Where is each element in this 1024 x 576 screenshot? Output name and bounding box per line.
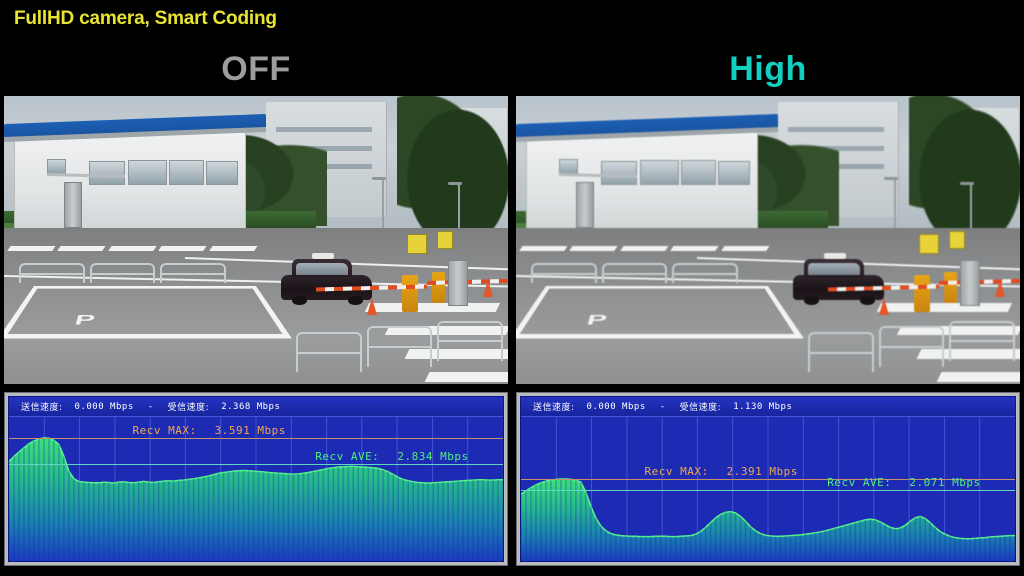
recv-ave-readout: Recv AVE:2.834 Mbps (315, 450, 468, 463)
camera-view-off: P (4, 96, 508, 384)
traffic-cone-2 (483, 280, 493, 297)
guard-rail-3 (160, 263, 226, 283)
graph-header-high: 送信速度: 0.000 Mbps - 受信速度: 1.130 Mbps (521, 397, 1015, 417)
bandwidth-graph-high: 送信速度: 0.000 Mbps - 受信速度: 1.130 Mbps Recv… (516, 392, 1020, 566)
guard-rail-6 (949, 321, 1015, 361)
comparison-stage: FullHD camera, Smart Coding OFF High (0, 0, 1024, 576)
equipment-cabinet (576, 182, 593, 228)
gate-booth (14, 125, 246, 237)
mode-label-high: High (512, 50, 1024, 89)
guard-rail-4 (808, 332, 874, 372)
trees-right (909, 96, 1020, 234)
recv-max-value: 2.391 Mbps (709, 465, 798, 478)
light-pole (894, 177, 896, 229)
warning-sign (919, 234, 939, 254)
bandwidth-graph-off: 送信速度: 0.000 Mbps - 受信速度: 2.368 Mbps Recv… (4, 392, 508, 566)
warning-sign-2 (437, 231, 452, 248)
recv-ave-value: 2.071 Mbps (891, 476, 980, 489)
guard-rail-2 (602, 263, 668, 283)
recv-max-label: Recv MAX: (133, 424, 197, 437)
guard-rail-4 (296, 332, 362, 372)
recv-ave-readout: Recv AVE:2.071 Mbps (827, 476, 980, 489)
separator: - (646, 402, 666, 412)
guard-rail (19, 263, 85, 283)
separator: - (134, 402, 154, 412)
rx-label: 受信速度: (666, 400, 722, 413)
tx-value: 0.000 Mbps (63, 402, 134, 412)
gate-terminal (960, 260, 980, 306)
max-threshold-line (9, 438, 503, 439)
recv-max-label: Recv MAX: (645, 465, 709, 478)
guard-rail-6 (437, 321, 503, 361)
ave-threshold-line (9, 464, 503, 465)
tx-label: 送信速度: (9, 400, 63, 413)
guard-rail-3 (672, 263, 738, 283)
traffic-cone (879, 298, 889, 315)
guard-rail (531, 263, 597, 283)
warning-sign (407, 234, 427, 254)
parking-stall (516, 286, 804, 338)
equipment-cabinet (64, 182, 81, 228)
traffic-cone-2 (995, 280, 1005, 297)
guard-rail-5 (367, 326, 433, 366)
parking-stall (4, 286, 292, 338)
gate-terminal (448, 260, 468, 306)
ave-threshold-line (521, 490, 1015, 491)
panel-smart-coding-off: P (4, 96, 508, 566)
page-title: FullHD camera, Smart Coding (14, 8, 277, 30)
recv-max-value: 3.591 Mbps (197, 424, 286, 437)
recv-max-readout: Recv MAX:3.591 Mbps (133, 424, 286, 437)
rx-label: 受信速度: (154, 400, 210, 413)
rx-value: 2.368 Mbps (209, 402, 280, 412)
recv-ave-label: Recv AVE: (827, 476, 891, 489)
gate-barrier-box-2 (432, 272, 445, 304)
graph-plot-high: Recv MAX:2.391 Mbps Recv AVE:2.071 Mbps (521, 417, 1015, 561)
mode-label-off: OFF (0, 50, 512, 89)
guard-rail-2 (90, 263, 156, 283)
graph-plot-off: Recv MAX:3.591 Mbps Recv AVE:2.834 Mbps (9, 417, 503, 561)
gate-barrier-box (914, 275, 930, 312)
light-pole-2 (970, 182, 972, 228)
graph-header-off: 送信速度: 0.000 Mbps - 受信速度: 2.368 Mbps (9, 397, 503, 417)
recv-max-readout: Recv MAX:2.391 Mbps (645, 465, 798, 478)
tx-value: 0.000 Mbps (575, 402, 646, 412)
pavement-p-mark: P (584, 313, 608, 329)
trees-right (397, 96, 508, 234)
panel-smart-coding-high: P (516, 96, 1020, 566)
gate-booth (526, 125, 758, 237)
tx-label: 送信速度: (521, 400, 575, 413)
gate-barrier-box-2 (944, 272, 957, 304)
rx-value: 1.130 Mbps (721, 402, 792, 412)
warning-sign-2 (949, 231, 964, 248)
light-pole (382, 177, 384, 229)
recv-ave-value: 2.834 Mbps (379, 450, 468, 463)
light-pole-2 (458, 182, 460, 228)
camera-view-high: P (516, 96, 1020, 384)
gate-barrier-box (402, 275, 418, 312)
recv-ave-label: Recv AVE: (315, 450, 379, 463)
traffic-cone (367, 298, 377, 315)
guard-rail-5 (879, 326, 945, 366)
pavement-p-mark: P (72, 313, 96, 329)
